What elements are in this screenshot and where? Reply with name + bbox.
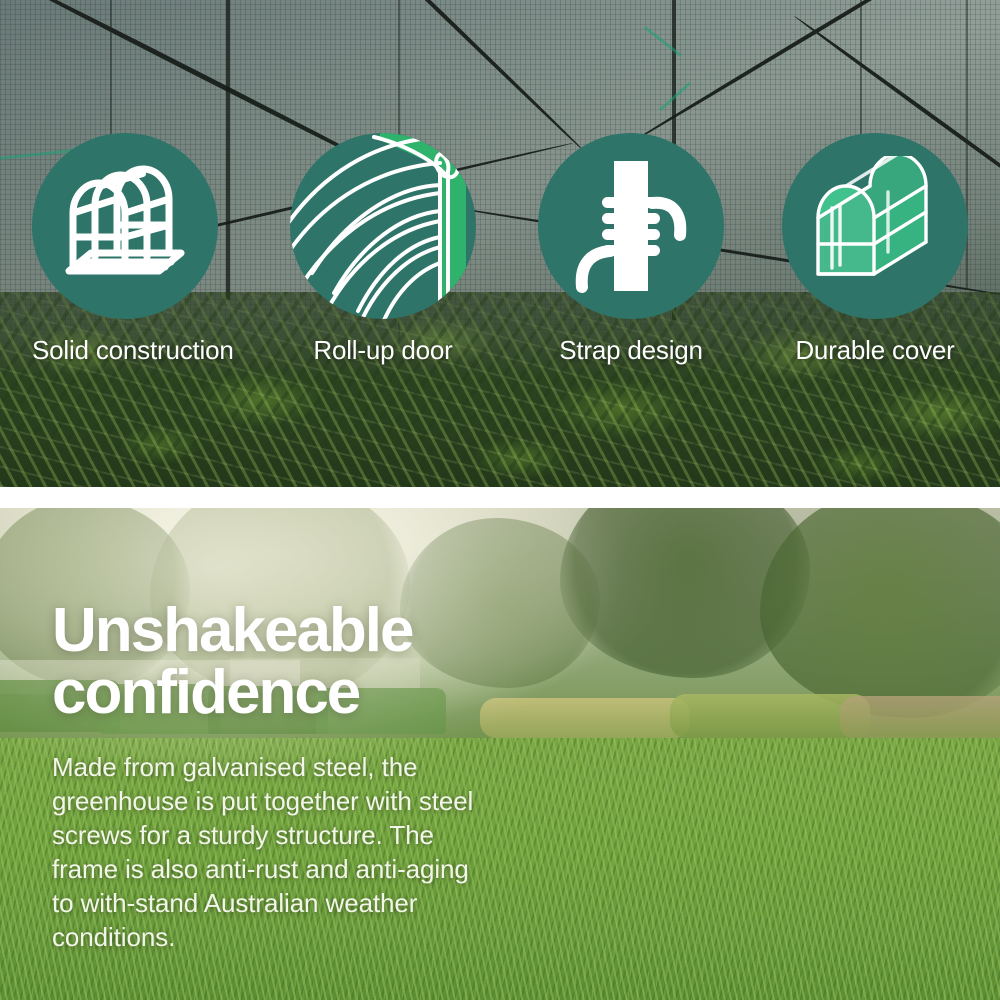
greenhouse-frame-icon xyxy=(55,161,195,291)
panel-divider xyxy=(0,487,1000,508)
feature-label: Solid construction xyxy=(32,335,218,365)
feature-circle xyxy=(290,133,476,319)
feature-label: Durable cover xyxy=(782,335,968,365)
feature-label: Roll-up door xyxy=(290,335,476,365)
roll-up-door-icon xyxy=(290,133,476,319)
strap-design-icon xyxy=(556,151,706,301)
feature-item-strap-design[interactable]: Strap design xyxy=(538,133,724,365)
feature-circle xyxy=(782,133,968,319)
feature-item-durable-cover[interactable]: Durable cover xyxy=(782,133,968,365)
feature-label: Strap design xyxy=(538,335,724,365)
product-feature-image: Solid construction xyxy=(0,0,1000,1000)
headline-line-2: confidence xyxy=(52,662,482,724)
feature-circle xyxy=(538,133,724,319)
marketing-text-block: Unshakeable confidence Made from galvani… xyxy=(52,600,482,954)
body-paragraph: Made from galvanised steel, the greenhou… xyxy=(52,750,482,954)
flower-bed xyxy=(840,696,1000,740)
top-panel: Solid construction xyxy=(0,0,1000,487)
durable-cover-icon xyxy=(800,156,950,296)
bottom-panel: Unshakeable confidence Made from galvani… xyxy=(0,508,1000,1000)
feature-list: Solid construction xyxy=(0,0,1000,487)
feature-item-roll-up-door[interactable]: Roll-up door xyxy=(290,133,476,365)
feature-circle xyxy=(32,133,218,319)
feature-item-solid-construction[interactable]: Solid construction xyxy=(32,133,218,365)
flower-bed xyxy=(480,698,690,738)
headline-line-1: Unshakeable xyxy=(52,600,482,662)
